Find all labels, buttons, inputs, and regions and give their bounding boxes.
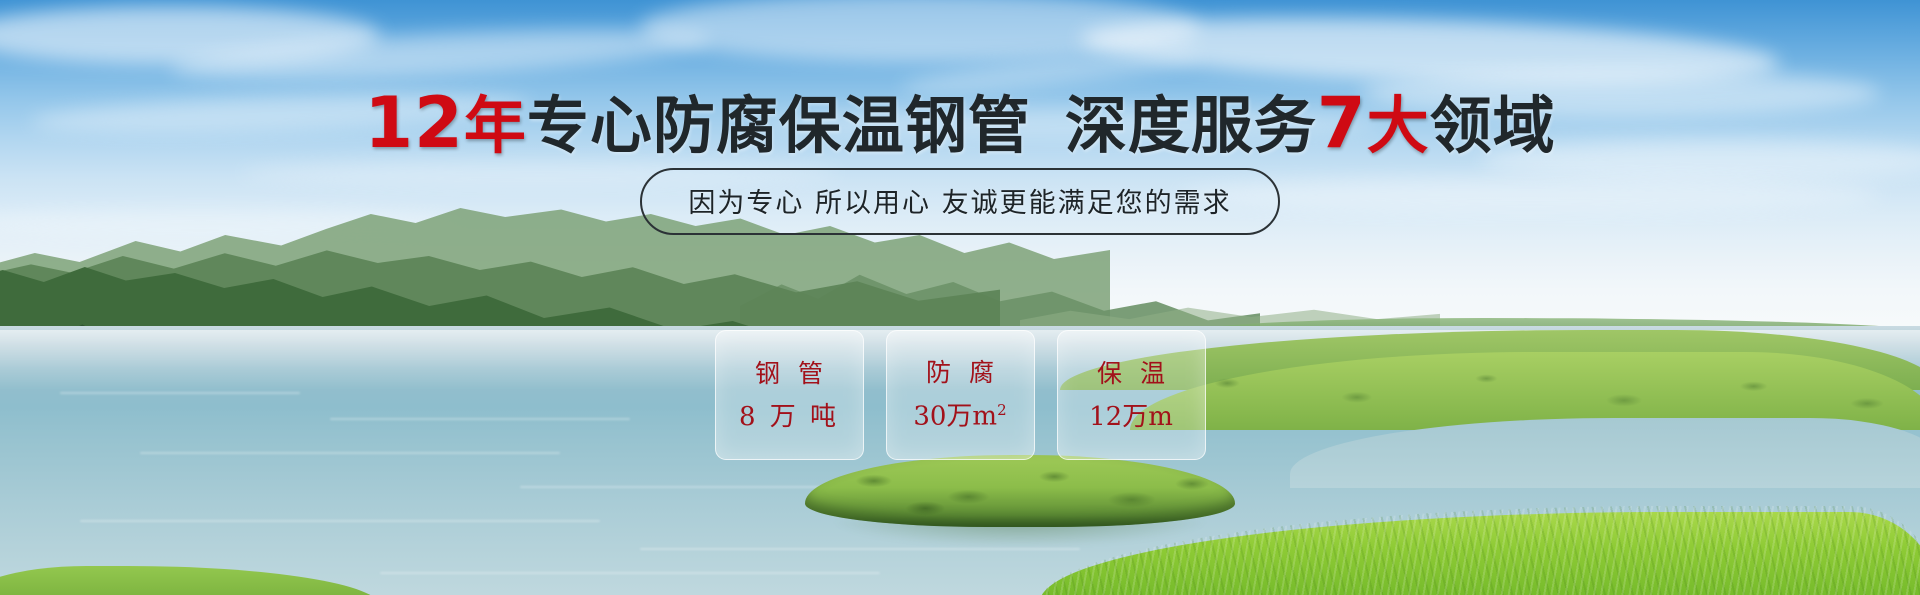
stat-card-steel-pipe[interactable]: 钢 管 8 万 吨 — [715, 330, 864, 460]
headline-years-unit: 年 — [464, 89, 527, 162]
stat-card-label: 保 温 — [1092, 361, 1170, 386]
stat-card-group: 钢 管 8 万 吨 防 腐 30万m2 保 温 12万m — [0, 330, 1920, 460]
stat-card-label: 钢 管 — [750, 361, 828, 386]
stat-card-value: 8 万 吨 — [739, 404, 839, 430]
headline-main-phrase: 专心防腐保温钢管 — [527, 89, 1031, 162]
subtitle-wrapper: 因为专心 所以用心 友诚更能满足您的需求 — [0, 168, 1920, 235]
water-ripple — [640, 548, 1080, 550]
water-ripple — [80, 520, 600, 522]
headline: 12年专心防腐保温钢管深度服务7大领域 — [0, 88, 1920, 158]
stat-card-anticorrosion[interactable]: 防 腐 30万m2 — [886, 330, 1035, 460]
stat-card-insulation[interactable]: 保 温 12万m — [1057, 330, 1206, 460]
stat-card-value: 12万m — [1089, 404, 1173, 430]
headline-fields-unit: 大 — [1367, 89, 1430, 162]
headline-service-phrase: 深度服务 — [1065, 89, 1317, 162]
stat-card-value-exponent: 2 — [997, 401, 1007, 419]
headline-years-number: 12 — [364, 82, 463, 164]
stat-card-value: 30万m2 — [913, 403, 1006, 430]
subtitle-pill: 因为专心 所以用心 友诚更能满足您的需求 — [640, 168, 1279, 235]
headline-fields-suffix: 领域 — [1430, 89, 1556, 162]
water-ripple — [380, 572, 880, 574]
stat-card-label: 防 腐 — [921, 360, 999, 385]
stat-card-value-text: 30万m — [913, 402, 997, 432]
promo-banner: 12年专心防腐保温钢管深度服务7大领域 因为专心 所以用心 友诚更能满足您的需求… — [0, 0, 1920, 595]
headline-fields-number: 7 — [1317, 82, 1367, 164]
